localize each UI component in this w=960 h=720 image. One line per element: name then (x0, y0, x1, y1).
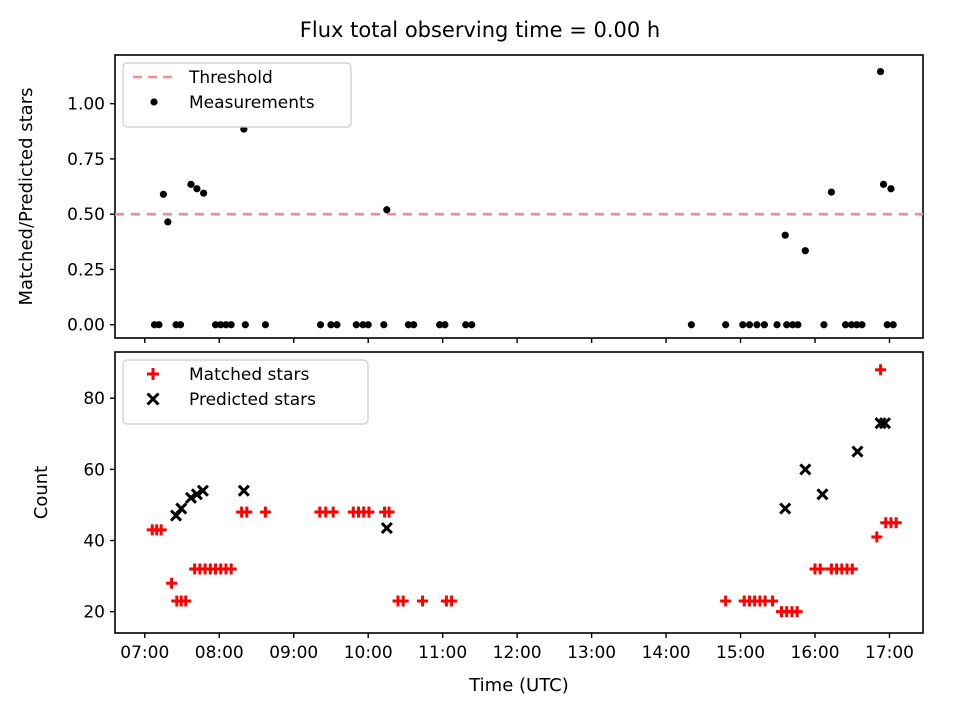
matplotlib-figure: Flux total observing time = 0.00 h 0.000… (0, 0, 960, 720)
matched-star-marker (720, 595, 731, 606)
y-tick-label: 0.25 (67, 260, 105, 280)
measurement-point (160, 191, 167, 198)
top-panel-axes: 0.000.250.500.751.00 Matched/Predicted s… (16, 55, 923, 343)
measurement-point (739, 321, 746, 328)
measurement-point (828, 188, 835, 195)
bottom-panel-ylabel: Count (31, 466, 52, 519)
bottom-panel-tick-labels: 07:0008:0009:0010:0011:0012:0013:0014:00… (83, 389, 914, 663)
measurement-point (187, 181, 194, 188)
x-tick-label: 16:00 (791, 643, 840, 663)
measurement-point (410, 321, 417, 328)
predicted-star-marker (382, 523, 392, 533)
x-tick-label: 15:00 (716, 643, 765, 663)
x-tick-label: 13:00 (567, 643, 616, 663)
y-tick-label: 60 (83, 460, 105, 480)
matched-star-marker (875, 364, 886, 375)
measurement-point (365, 321, 372, 328)
x-tick-label: 07:00 (120, 643, 169, 663)
legend-label: Threshold (188, 68, 273, 88)
measurement-point (164, 218, 171, 225)
predicted-star-marker (852, 447, 862, 457)
measurement-point (200, 190, 207, 197)
y-tick-label: 0.00 (67, 316, 105, 336)
measurement-point (722, 321, 729, 328)
x-tick-label: 11:00 (418, 643, 467, 663)
top-panel-legend: ThresholdMeasurements (123, 63, 351, 127)
matched-star-marker (166, 578, 177, 589)
measurement-point (193, 185, 200, 192)
matched-star-marker (328, 507, 339, 518)
measurement-point (383, 206, 390, 213)
figure-canvas: Flux total observing time = 0.00 h 0.000… (0, 0, 960, 720)
top-panel-ticks (110, 104, 889, 343)
measurement-point (177, 321, 184, 328)
x-tick-label: 12:00 (493, 643, 542, 663)
x-tick-label: 17:00 (865, 643, 914, 663)
measurement-point (761, 321, 768, 328)
dot-marker-icon (150, 98, 157, 105)
bottom-panel-axes: 07:0008:0009:0010:0011:0012:0013:0014:00… (31, 352, 923, 696)
measurement-point (890, 321, 897, 328)
matched-star-marker (260, 507, 271, 518)
y-tick-label: 1.00 (67, 95, 105, 115)
x-tick-label: 14:00 (642, 643, 691, 663)
bottom-panel-legend: Matched starsPredicted stars (123, 360, 368, 424)
measurement-point (317, 321, 324, 328)
measurement-point (262, 321, 269, 328)
y-tick-label: 0.50 (67, 205, 105, 225)
measurement-point (782, 232, 789, 239)
legend-label: Predicted stars (189, 390, 316, 410)
predicted-star-marker (800, 464, 810, 474)
measurement-point (880, 181, 887, 188)
predicted-star-marker (239, 486, 249, 496)
measurement-point (877, 68, 884, 75)
predicted-star-marker (780, 504, 790, 514)
measurement-point (858, 321, 865, 328)
measurement-point (441, 321, 448, 328)
y-tick-label: 20 (83, 603, 105, 623)
measurement-point (380, 321, 387, 328)
bottom-panel-xlabel: Time (UTC) (468, 675, 569, 696)
matched-star-marker (871, 531, 882, 542)
measurement-point (794, 321, 801, 328)
y-tick-label: 80 (83, 389, 105, 409)
measurement-point (820, 321, 827, 328)
measurement-point (753, 321, 760, 328)
x-tick-label: 08:00 (195, 643, 244, 663)
measurement-point (242, 321, 249, 328)
matched-star-marker (417, 595, 428, 606)
y-tick-label: 40 (83, 532, 105, 552)
measurement-point (688, 321, 695, 328)
measurement-point (228, 321, 235, 328)
measurement-point (802, 247, 809, 254)
figure-title: Flux total observing time = 0.00 h (300, 18, 660, 42)
legend-label: Measurements (189, 93, 315, 113)
top-panel-tick-labels: 0.000.250.500.751.00 (67, 95, 105, 336)
x-tick-label: 09:00 (269, 643, 318, 663)
measurement-point (746, 321, 753, 328)
measurement-point (773, 321, 780, 328)
x-tick-label: 10:00 (344, 643, 393, 663)
matched-star-marker (767, 595, 778, 606)
measurement-point (468, 321, 475, 328)
measurement-point (333, 321, 340, 328)
top-panel-ylabel: Matched/Predicted stars (16, 88, 37, 306)
measurement-point (887, 185, 894, 192)
measurement-point (353, 321, 360, 328)
y-tick-label: 0.75 (67, 150, 105, 170)
predicted-star-marker (817, 489, 827, 499)
legend-label: Matched stars (189, 365, 309, 385)
measurement-point (155, 321, 162, 328)
